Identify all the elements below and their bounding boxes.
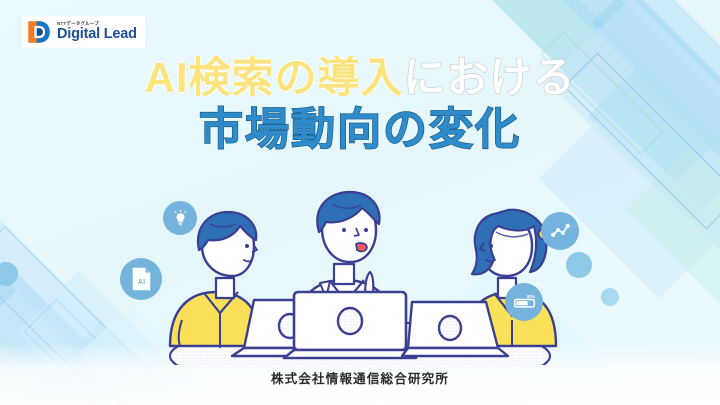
title-slide: NTTデータグループ Digital Lead AI検索の導入における 市場動向…	[0, 0, 720, 405]
progress-bar-icon: 80%	[513, 293, 536, 311]
digital-lead-mark-icon	[26, 19, 52, 45]
line-chart-icon	[550, 221, 571, 242]
badge-lightbulb[interactable]	[163, 201, 197, 235]
decorative-dot	[566, 252, 592, 278]
footer-organization: 株式会社情報通信総合研究所	[0, 368, 720, 387]
badge-line-chart[interactable]	[541, 212, 579, 250]
badge-ai-document[interactable]: AI	[120, 258, 162, 300]
svg-text:AI: AI	[137, 277, 144, 286]
logo-name: Digital Lead	[57, 27, 137, 42]
ai-document-icon: AI	[131, 267, 152, 291]
progress-value-label: 80%	[526, 294, 535, 299]
badge-progress[interactable]: 80%	[505, 283, 543, 321]
lightbulb-icon	[171, 209, 190, 228]
decorative-dot	[601, 288, 619, 306]
laptop-center	[284, 292, 416, 358]
brand-logo[interactable]: NTTデータグループ Digital Lead	[22, 16, 145, 48]
